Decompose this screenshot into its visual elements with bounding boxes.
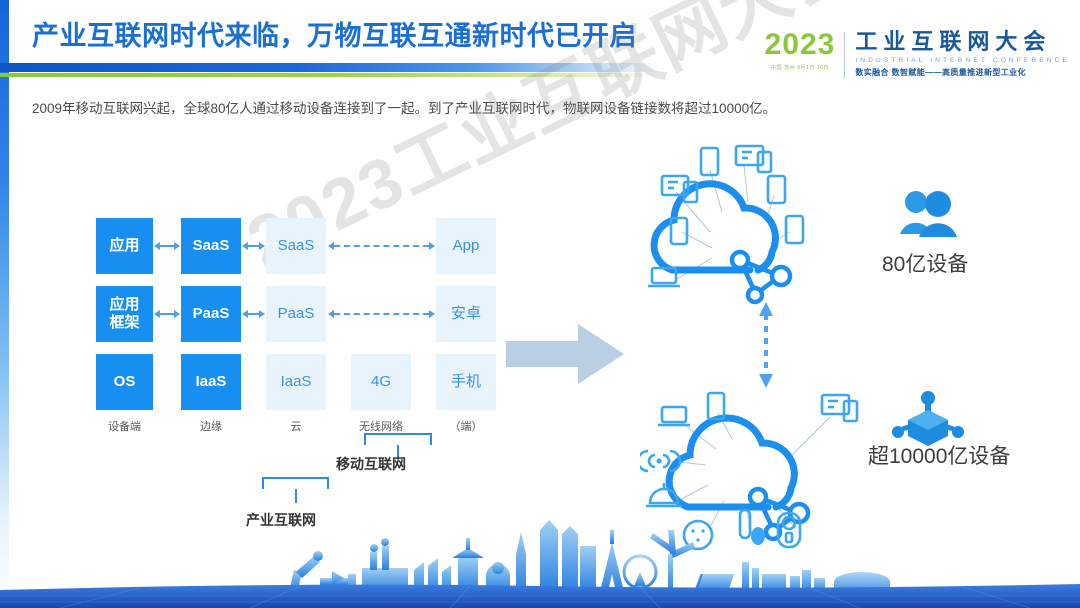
arrow-edge-cloud-row1 xyxy=(242,309,265,319)
bracket-mobile-internet xyxy=(364,433,432,445)
stack-cell-device-app-framework: 应用框架 xyxy=(96,286,153,342)
stack-column-label-edge: 边缘 xyxy=(181,418,241,434)
stack-cell-edge-paas: PaaS xyxy=(181,286,241,342)
slide-canvas: 产业互联网时代来临，万物互联互通新时代已开启 2023 中国·苏州 8月1日-1… xyxy=(0,0,1080,608)
stack-column-label-device: 设备端 xyxy=(96,418,153,434)
stack-cell-edge-saas: SaaS xyxy=(181,218,241,274)
bracket-label-mobile-internet: 移动互联网 xyxy=(336,454,406,474)
arrow-device-edge-row0 xyxy=(154,241,180,251)
arrow-cloud-terminal-row1 xyxy=(328,309,435,319)
stack-cell-wireless-4g: 4G xyxy=(351,354,411,410)
stack-cell-terminal-android: 安卓 xyxy=(436,286,496,342)
logo-date: 中国·苏州 8月1日-16日 xyxy=(771,64,829,71)
device-count-bottom: 超10000亿设备 xyxy=(868,440,1010,470)
arrow-device-edge-row1 xyxy=(154,309,180,319)
transition-arrow-icon xyxy=(506,322,624,386)
stack-cell-cloud-iaas: IaaS xyxy=(266,354,326,410)
cloud-illustration-top xyxy=(640,140,860,320)
arrow-edge-cloud-row0 xyxy=(242,241,265,251)
stack-cell-terminal-phone: 手机 xyxy=(436,354,496,410)
stack-cell-cloud-saas: SaaS xyxy=(266,218,326,274)
logo-name-en: INDUSTRIAL INTERNET CONFERENCE xyxy=(855,57,1070,64)
stack-cell-device-application: 应用 xyxy=(96,218,153,274)
logo-subtitle: 数实融合 数智赋能——高质量推进新型工业化 xyxy=(855,67,1070,78)
lead-paragraph: 2009年移动互联网兴起，全球80亿人通过移动设备连接到了一起。到了产业互联网时… xyxy=(32,97,776,117)
device-count-top: 80亿设备 xyxy=(882,248,968,278)
stack-column-label-terminal: （端） xyxy=(436,418,496,434)
stack-cell-terminal-app: App xyxy=(436,218,496,274)
logo-text-block: 工业互联网大会 INDUSTRIAL INTERNET CONFERENCE 数… xyxy=(845,30,1070,78)
stack-cell-edge-iaas: IaaS xyxy=(181,354,241,410)
stack-cell-cloud-paas: PaaS xyxy=(266,286,326,342)
divider-blue-bar xyxy=(0,63,660,72)
stack-column-label-cloud: 云 xyxy=(266,418,326,434)
conference-logo: 2023 中国·苏州 8月1日-16日 工业互联网大会 INDUSTRIAL I… xyxy=(765,30,1070,86)
users-icon xyxy=(898,188,960,238)
logo-name-cn: 工业互联网大会 xyxy=(855,30,1070,54)
stack-column-label-wireless: 无线网络 xyxy=(341,418,421,434)
stack-diagram: 应用 SaaS SaaS App 应用框架 PaaS PaaS 安卓 OS Ia… xyxy=(96,218,516,418)
page-title: 产业互联网时代来临，万物互联互通新时代已开启 xyxy=(32,14,637,53)
arrow-cloud-terminal-row0 xyxy=(328,241,435,251)
divider-green-bar xyxy=(0,73,660,77)
stack-cell-device-os: OS xyxy=(96,354,153,410)
city-skyline-decoration xyxy=(0,516,1080,608)
logo-year: 2023 xyxy=(765,30,836,60)
bracket-industrial-internet xyxy=(262,477,329,489)
logo-year-block: 2023 中国·苏州 8月1日-16日 xyxy=(765,30,845,71)
